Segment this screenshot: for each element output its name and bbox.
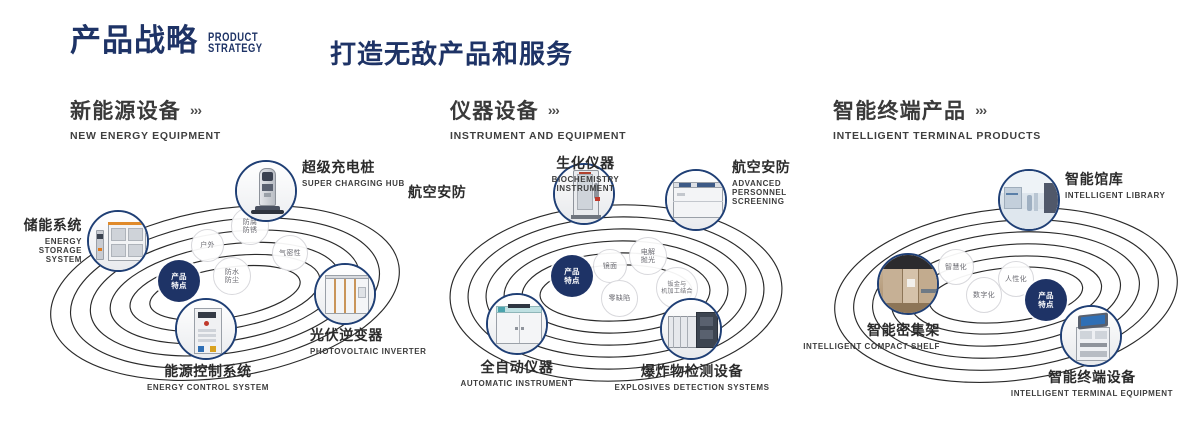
screening-machine-photo [667,171,725,229]
bubble-explosives-detection-systems[interactable] [660,298,722,360]
feature-bubble-text: 人性化 [1005,275,1027,284]
caption-cn: 生化仪器 [533,153,638,173]
caption-super-charging-hub: 超级充电桩 SUPER CHARGING HUB [302,157,405,188]
feature-bubble-text: 智慧化 [945,263,967,272]
chevron-right-icon: ››› [190,103,201,117]
caption-energy-storage-system: 储能系统 ENERGY STORAGE SYSTEM [0,215,82,264]
bubble-intelligent-library[interactable] [998,169,1060,231]
feature-bubble: 智慧化 [938,249,974,285]
core-bubble: 产品特点 [551,255,593,297]
section-heading-en: NEW ENERGY EQUIPMENT [70,130,221,142]
caption-en: SUPER CHARGING HUB [302,179,405,188]
cluster-intelligent-terminal-products: 智慧化 数字化 人性化 产品特点 智能馆库 INTELLIGENT LIB [810,165,1200,415]
caption-en: INTELLIGENT COMPACT SHELF [780,342,940,351]
core-bubble-line1: 产品 [171,272,187,281]
caption-cn: 航空安防 [408,182,466,202]
section-heading-instrument: 仪器设备 ››› INSTRUMENT AND EQUIPMENT [450,95,626,142]
core-bubble: 产品特点 [158,260,200,302]
page-title: 产品战略 PRODUCT STRATEGY [70,26,275,57]
caption-cn: 智能密集架 [780,320,940,340]
feature-bubble-line2: 机加工结合 [661,288,693,295]
feature-bubble: 数字化 [966,277,1002,313]
section-heading-cn: 智能终端产品 [833,95,966,125]
caption-intelligent-compact-shelf: 智能密集架 INTELLIGENT COMPACT SHELF [780,320,940,351]
battery-cabinet-photo [89,212,147,270]
caption-cn: 储能系统 [0,215,82,235]
caption-aviation-security-aside: 航空安防 [408,182,466,202]
feature-bubble-line1: 电解 [641,248,656,256]
caption-automatic-instrument: 全自动仪器 AUTOMATIC INSTRUMENT [450,357,584,388]
feature-bubble: 户外 [191,229,224,262]
caption-photovoltaic-inverter: 光伏逆变器 PHOTOVOLTAIC INVERTER [310,325,426,356]
caption-cn: 智能馆库 [1065,169,1165,189]
caption-en: EXPLOSIVES DETECTION SYSTEMS [610,383,774,392]
bubble-advanced-personnel-screening[interactable] [665,169,727,231]
feature-bubble: 电解抛光 [629,237,667,275]
caption-en: AUTOMATIC INSTRUMENT [450,379,584,388]
core-bubble-line2: 特点 [564,276,580,285]
feature-bubble: 镜面 [593,249,627,283]
caption-cn: 智能终端设备 [1008,367,1176,387]
section-heading-en: INTELLIGENT TERMINAL PRODUCTS [833,130,1041,142]
core-bubble-line1: 产品 [1038,291,1054,300]
charging-pile-photo [237,162,295,220]
cluster-instrument-and-equipment: 产品特点 镜面 电解抛光 零缺陷 钣金与机加工结合 航空安防 [420,165,820,415]
caption-cn: 爆炸物检测设备 [610,361,774,381]
bubble-photovoltaic-inverter[interactable] [314,263,376,325]
page-title-en-line2: STRATEGY [208,44,263,55]
chevron-right-icon: ››› [975,103,986,117]
feature-bubble: 防水防尘 [213,257,251,295]
caption-en: INTELLIGENT TERMINAL EQUIPMENT [1008,389,1176,398]
core-bubble-line2: 特点 [1038,300,1054,309]
feature-bubble: 零缺陷 [601,280,638,317]
section-heading-cn: 仪器设备 [450,95,539,125]
feature-bubble-line1: 钣金与 [668,281,687,288]
section-heading-new-energy: 新能源设备 ››› NEW ENERGY EQUIPMENT [70,95,221,142]
core-bubble-line1: 产品 [564,267,580,276]
page-title-en: PRODUCT STRATEGY [208,33,263,55]
page-title-cn: 产品战略 [70,26,198,57]
caption-biochemistry-instrument: 生化仪器 BIOCHEMISTRY INSTRUMENT [533,153,638,193]
core-bubble-line2: 特点 [171,281,187,290]
caption-en: INTELLIGENT LIBRARY [1065,191,1165,200]
section-heading-en: INSTRUMENT AND EQUIPMENT [450,130,626,142]
automatic-instrument-photo [488,295,546,353]
feature-bubble-line2: 防锈 [243,226,258,234]
feature-bubble-text: 镜面 [603,262,618,271]
bubble-intelligent-compact-shelf[interactable] [877,253,939,315]
caption-cn: 能源控制系统 [113,361,303,381]
explosives-detector-photo [662,300,720,358]
caption-intelligent-library: 智能馆库 INTELLIGENT LIBRARY [1065,169,1165,200]
caption-energy-control-system: 能源控制系统 ENERGY CONTROL SYSTEM [113,361,303,392]
caption-explosives-detection-systems: 爆炸物检测设备 EXPLOSIVES DETECTION SYSTEMS [610,361,774,392]
chevron-right-icon: ››› [548,103,559,117]
feature-bubble-line2: 抛光 [641,256,656,264]
core-bubble: 产品特点 [1025,279,1067,321]
feature-bubble-line1: 防水 [225,268,240,276]
bubble-energy-control-system[interactable] [175,298,237,360]
feature-bubble-text: 零缺陷 [609,294,631,303]
cluster-new-energy-equipment: 产品特点 户外 防腐防锈 防水防尘 气密性 [25,165,425,415]
product-strategy-infographic: 产品战略 PRODUCT STRATEGY 打造无敌产品和服务 新能源设备 ››… [0,0,1200,422]
feature-bubble-text: 户外 [200,241,215,250]
compact-shelf-photo [879,255,937,313]
feature-bubble-text: 气密性 [279,249,301,258]
caption-cn: 超级充电桩 [302,157,405,177]
caption-en: PHOTOVOLTAIC INVERTER [310,347,426,356]
bubble-automatic-instrument[interactable] [486,293,548,355]
caption-cn: 全自动仪器 [450,357,584,377]
bubble-energy-storage-system[interactable] [87,210,149,272]
caption-intelligent-terminal-equipment: 智能终端设备 INTELLIGENT TERMINAL EQUIPMENT [1008,367,1176,398]
page-subtitle: 打造无敌产品和服务 [330,34,573,71]
feature-bubble-text: 数字化 [973,291,995,300]
caption-en: ENERGY STORAGE SYSTEM [0,237,82,264]
control-cabinet-photo [177,300,235,358]
bubble-intelligent-terminal-equipment[interactable] [1060,305,1122,367]
pv-inverter-photo [316,265,374,323]
caption-en: BIOCHEMISTRY INSTRUMENT [533,175,638,193]
caption-cn: 光伏逆变器 [310,325,426,345]
feature-bubble-line2: 防尘 [225,276,240,284]
self-service-kiosk-photo [1062,307,1120,365]
caption-en: ENERGY CONTROL SYSTEM [113,383,303,392]
feature-bubble: 气密性 [272,235,308,271]
section-heading-cn: 新能源设备 [70,95,181,125]
section-heading-intelligent-terminal: 智能终端产品 ››› INTELLIGENT TERMINAL PRODUCTS [833,95,1041,142]
bubble-super-charging-hub[interactable] [235,160,297,222]
library-interior-photo [1000,171,1058,229]
